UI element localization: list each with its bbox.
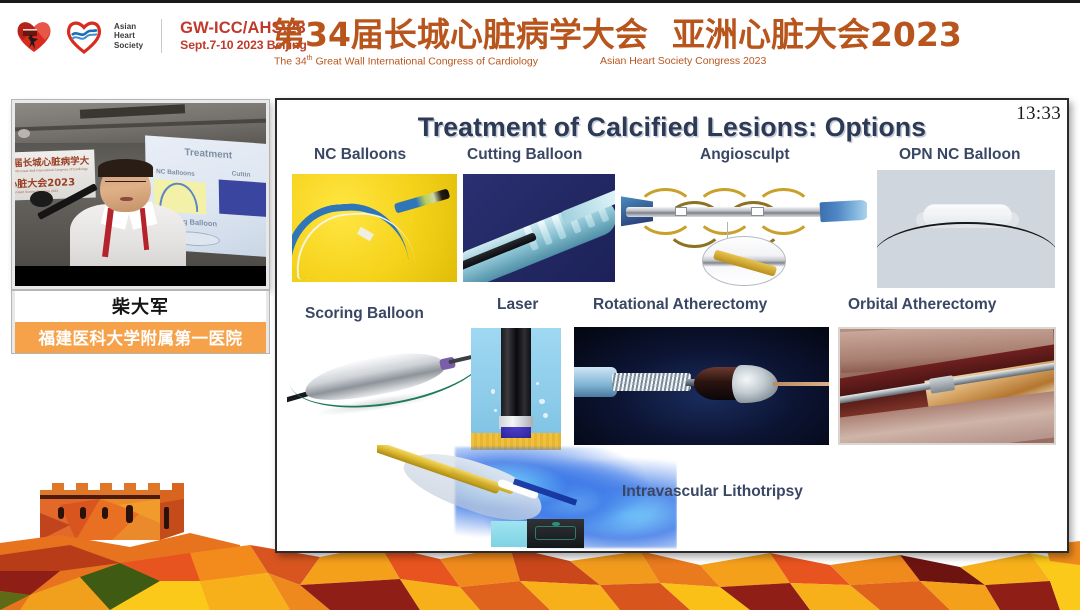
rota-advancer-hub	[574, 367, 617, 397]
label-rotational-atherectomy: Rotational Atherectomy	[593, 296, 767, 314]
ceiling-smoke-detector	[18, 129, 31, 138]
laser-bubble	[543, 413, 548, 418]
asian-heart-society-logo	[64, 17, 104, 55]
en-left-pre: The 34	[274, 56, 307, 68]
angiosculpt-image	[621, 170, 867, 288]
presentation-slide[interactable]: 13:33 Treatment of Calcified Lesions: Op…	[275, 98, 1069, 553]
label-opn-nc-balloon: OPN NC Balloon	[899, 146, 1020, 164]
congress-title-en-right: Asian Heart Society Congress 2023	[600, 55, 766, 68]
label-laser: Laser	[497, 296, 538, 314]
foreground-table	[15, 266, 266, 286]
angiosculpt-marker-1	[675, 207, 687, 216]
congress-title-block: 第34届长城心脏病学大会 亚洲心脏大会2023 The 34th Great W…	[272, 18, 972, 68]
scoring-balloon-image	[287, 326, 502, 434]
congress-title-cn-right: 亚洲心脏大会2023	[672, 18, 962, 51]
speaker-hair	[98, 159, 153, 177]
laser-bubble	[491, 389, 496, 394]
laser-catheter	[501, 328, 532, 421]
rota-guidewire	[773, 382, 829, 386]
label-cutting-balloon: Cutting Balloon	[467, 146, 582, 164]
nc-balloons-image	[292, 174, 457, 282]
angiosculpt-shaft	[626, 207, 838, 218]
laser-bubble	[494, 409, 498, 413]
angiosculpt-magnified-wire	[713, 249, 777, 277]
projected-slide-title: Treatment	[184, 147, 232, 161]
speaker-affiliation: 福建医科大学附属第一医院	[15, 322, 266, 353]
rota-drive-shaft	[612, 373, 691, 391]
laser-bubble	[539, 399, 544, 404]
watchtower	[40, 483, 184, 540]
conference-banner: Asian Heart Society GW-ICC/AHS.23 Sept.7…	[0, 0, 1080, 90]
en-left-post: Great Wall International Congress of Car…	[313, 56, 538, 68]
banner-top-strip	[0, 0, 1080, 3]
speaker-mouth	[120, 197, 133, 201]
ivl-generator-screen	[535, 526, 576, 540]
logo-group: Asian Heart Society GW-ICC/AHS.23 Sept.7…	[14, 14, 307, 58]
slide-title: Treatment of Calcified Lesions: Options	[277, 112, 1067, 143]
opn-guidewire	[877, 222, 1055, 257]
ahs-text-line-2: Heart	[114, 31, 143, 40]
angiosculpt-tip	[820, 199, 867, 222]
angiosculpt-magnifier-inset	[702, 236, 786, 286]
rota-diamond-burr	[732, 365, 778, 403]
laser-bubble	[536, 382, 540, 386]
cutting-balloon-image	[463, 174, 615, 282]
rotational-atherectomy-image	[574, 327, 829, 445]
orbital-atherectomy-image	[838, 327, 1056, 445]
label-intravascular-lithotripsy: Intravascular Lithotripsy	[622, 483, 803, 501]
speaker-figure	[70, 162, 185, 268]
angiosculpt-marker-2	[751, 207, 763, 216]
ivl-generator-indicator	[552, 522, 560, 526]
projected-label-cutting: Cuttin	[231, 171, 250, 179]
projected-cutting-image	[218, 179, 266, 217]
label-orbital-atherectomy: Orbital Atherectomy	[848, 296, 996, 314]
ahs-logo-text: Asian Heart Society	[114, 22, 143, 50]
label-angiosculpt: Angiosculpt	[700, 146, 790, 164]
ahs-text-line-3: Society	[114, 41, 143, 50]
opn-nc-balloon-image	[877, 170, 1055, 288]
speaker-identification-card: 柴大军 福建医科大学附属第一医院	[12, 291, 269, 353]
congress-title-cn-left: 第34届长城心脏病学大会	[272, 18, 648, 51]
laser-image	[471, 328, 561, 450]
ahs-text-line-1: Asian	[114, 22, 143, 31]
laser-emission	[501, 427, 532, 438]
speaker-video-feed[interactable]: 4届长城心脏病学大 The 34th Great Wall Internatio…	[12, 100, 269, 289]
gwicc-heart-logo	[14, 16, 54, 56]
logo-divider	[161, 19, 162, 53]
ivl-generator	[527, 519, 584, 548]
speaker-name: 柴大军	[15, 291, 266, 322]
congress-title-en-left: The 34th Great Wall International Congre…	[274, 55, 538, 68]
ivl-generator-secondary	[491, 521, 527, 547]
video-frame: 4届长城心脏病学大 The 34th Great Wall Internatio…	[15, 103, 266, 286]
nc-catheter-tip	[394, 188, 451, 213]
speaker-glasses	[105, 181, 147, 188]
label-scoring-balloon: Scoring Balloon	[305, 305, 424, 323]
microphone-head	[30, 191, 53, 207]
label-nc-balloons: NC Balloons	[314, 146, 406, 164]
